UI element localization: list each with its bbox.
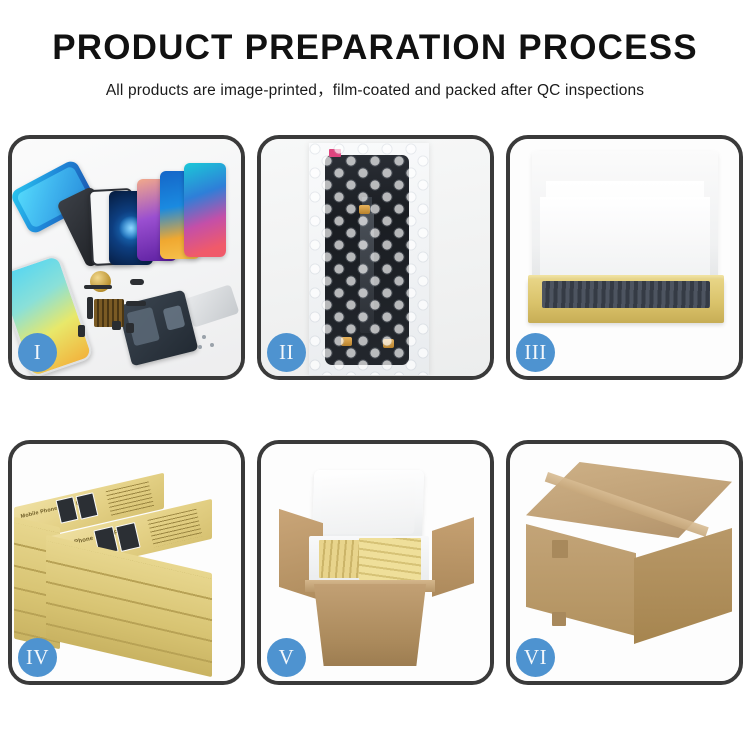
step-badge-4: IV — [18, 638, 57, 677]
foam-box-lid — [312, 470, 425, 542]
packed-screens-in-tray — [542, 281, 710, 308]
bubble-texture — [309, 143, 429, 375]
process-steps-grid: I II — [8, 135, 744, 685]
process-step-card-4: Mobile Phone Spare Parts Mobile Phone Sp… — [8, 440, 245, 685]
white-foam-sheet — [540, 197, 710, 279]
flex-cable-part-2 — [126, 301, 146, 306]
process-step-card-2: II — [257, 135, 494, 380]
screw-part-3 — [198, 345, 202, 349]
step-badge-2: II — [267, 333, 306, 372]
header: PRODUCT PREPARATION PROCESS All products… — [0, 0, 750, 100]
carton-flap-right — [432, 517, 474, 597]
process-step-card-3: III — [506, 135, 743, 380]
page-title: PRODUCT PREPARATION PROCESS — [0, 30, 750, 67]
flex-cable-part-1 — [87, 297, 93, 319]
yellow-packages-row-2 — [359, 538, 421, 580]
product-preparation-process-page: PRODUCT PREPARATION PROCESS All products… — [0, 0, 750, 750]
process-step-card-5: V — [257, 440, 494, 685]
carton-tab-upper — [552, 540, 568, 558]
step-numeral-3: III — [524, 342, 546, 363]
carton-tab-lower — [552, 612, 566, 626]
camera-module-part — [112, 321, 121, 330]
step-badge-1: I — [18, 333, 57, 372]
phone-teal-wallpaper — [184, 163, 226, 257]
step-5-photo: V — [261, 444, 490, 681]
page-subtitle: All products are image-printed，film-coat… — [0, 78, 750, 100]
process-step-card-1: I — [8, 135, 245, 380]
step-badge-6: VI — [516, 638, 555, 677]
step-6-photo: VI — [510, 444, 739, 681]
step-numeral-6: VI — [524, 647, 547, 668]
bubble-wrap-bag — [309, 143, 429, 375]
repair-tool — [185, 284, 240, 327]
sealed-carton-side — [634, 528, 732, 644]
step-numeral-4: IV — [26, 647, 49, 668]
carton-front-panel — [309, 584, 431, 666]
process-step-card-6: VI — [506, 440, 743, 685]
step-numeral-2: II — [279, 342, 294, 363]
step-badge-5: V — [267, 638, 306, 677]
screw-part-1 — [202, 335, 206, 339]
step-4-photo: Mobile Phone Spare Parts Mobile Phone Sp… — [12, 444, 241, 681]
step-badge-3: III — [516, 333, 555, 372]
step-2-photo: II — [261, 139, 490, 376]
step-3-photo: III — [510, 139, 739, 376]
small-button-part — [130, 279, 144, 285]
screw-part-2 — [210, 343, 214, 347]
step-numeral-1: I — [34, 342, 42, 363]
sealed-carton-front — [526, 524, 636, 636]
battery-connector-part — [126, 323, 134, 333]
sim-tray-part — [78, 325, 85, 337]
earpiece-speaker-part — [84, 285, 112, 289]
step-1-photo: I — [12, 139, 241, 376]
box-stack-seams-front — [46, 541, 212, 677]
step-numeral-5: V — [279, 647, 295, 668]
